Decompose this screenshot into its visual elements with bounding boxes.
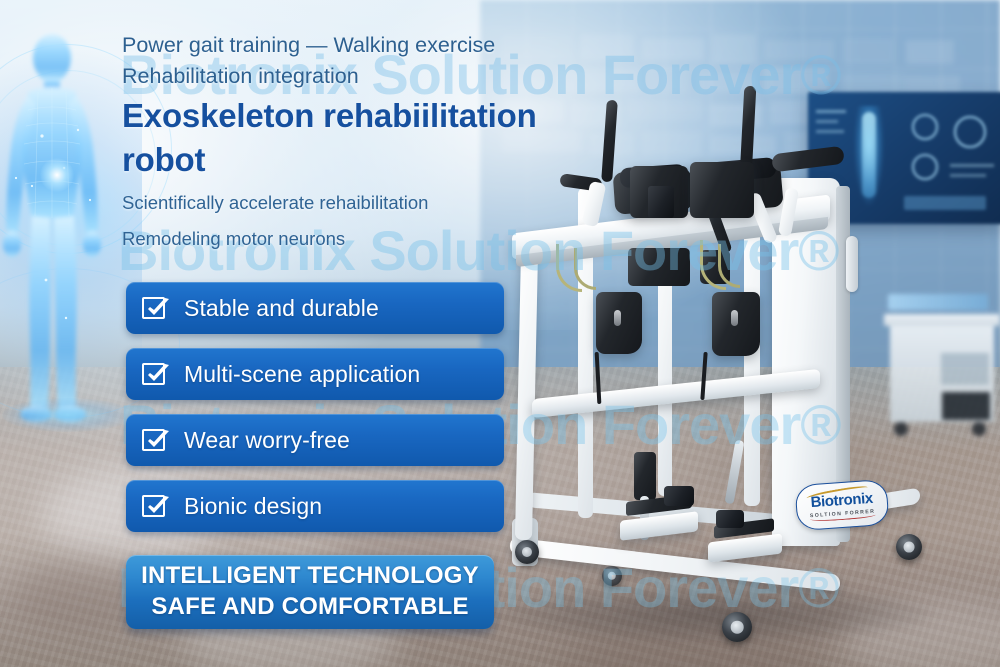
subcopy-line-2: Remodeling motor neurons bbox=[122, 226, 642, 253]
caster-wheel-back-right bbox=[896, 534, 922, 560]
feature-pill-label: Stable and durable bbox=[184, 295, 379, 322]
torso-module-right bbox=[690, 162, 754, 218]
cuff-buckle-left bbox=[614, 310, 621, 326]
heel-block-left bbox=[664, 486, 694, 506]
caster-wheel-front-right bbox=[722, 612, 752, 642]
feature-pill-label: Wear worry-free bbox=[184, 427, 350, 454]
product-poster: Biotronix SOLTION FORRER Biotronix Solut… bbox=[0, 0, 1000, 667]
kicker-line-2: Rehabilitation integration bbox=[122, 61, 642, 92]
checkbox-checked-icon bbox=[142, 426, 170, 454]
side-grab-handle bbox=[846, 236, 858, 292]
checkbox-checked-icon bbox=[142, 294, 170, 322]
copy-block: Power gait training — Walking exercise R… bbox=[122, 30, 642, 253]
tagline-banner: INTELLIGENT TECHNOLOGY SAFE AND COMFORTA… bbox=[126, 555, 494, 629]
torso-module-center-block bbox=[648, 186, 674, 218]
feature-pill[interactable]: Bionic design bbox=[126, 480, 504, 532]
feature-pill-label: Multi-scene application bbox=[184, 361, 420, 388]
feature-pill[interactable]: Wear worry-free bbox=[126, 414, 504, 466]
feature-pill-label: Bionic design bbox=[184, 493, 322, 520]
caster-wheel-back-left bbox=[602, 566, 622, 586]
hip-assembly bbox=[628, 248, 690, 286]
tagline-line-2: SAFE AND COMFORTABLE bbox=[151, 592, 468, 623]
shank-rod-right bbox=[725, 440, 745, 505]
handlebar-grip-top-right bbox=[771, 146, 845, 173]
brand-logo-badge: Biotronix SOLTION FORRER bbox=[795, 479, 890, 531]
subcopy-line-1: Scientifically accelerate rehaibilitatio… bbox=[122, 190, 642, 217]
headline-line-1: Exoskeleton rehabiilitation bbox=[122, 97, 642, 135]
tagline-line-1: INTELLIGENT TECHNOLOGY bbox=[141, 561, 479, 592]
heel-block-right bbox=[716, 510, 744, 528]
headline-line-2: robot bbox=[122, 141, 642, 179]
caster-wheel-front-left bbox=[515, 540, 539, 564]
checkbox-checked-icon bbox=[142, 492, 170, 520]
feature-list: Stable and durableMulti-scene applicatio… bbox=[126, 282, 504, 546]
knee-actuator-left bbox=[634, 452, 656, 500]
feature-pill[interactable]: Multi-scene application bbox=[126, 348, 504, 400]
kicker-line-1: Power gait training — Walking exercise bbox=[122, 30, 642, 61]
cuff-buckle-right bbox=[731, 310, 738, 326]
checkbox-checked-icon bbox=[142, 360, 170, 388]
product-ground-shadow bbox=[500, 585, 930, 643]
feature-pill[interactable]: Stable and durable bbox=[126, 282, 504, 334]
